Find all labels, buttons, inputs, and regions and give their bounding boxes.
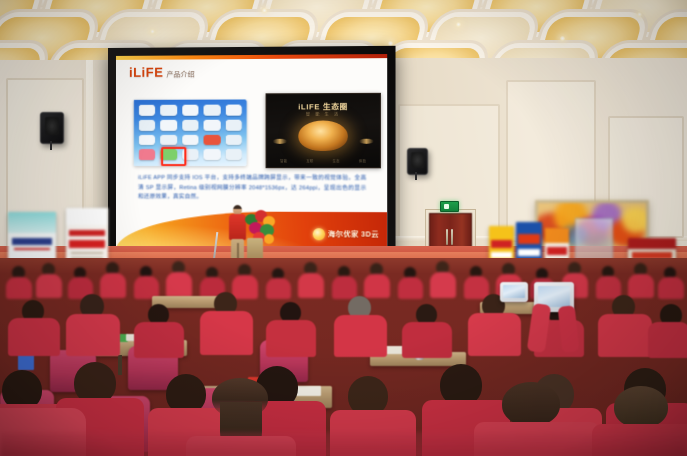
slide-brand-logo: 海尔优家 3D云 [313, 228, 379, 241]
slide-title-suffix: 产品介绍 [166, 71, 194, 78]
ceiling-downlight [456, 22, 461, 27]
ceiling-downlight [637, 12, 642, 17]
promo-footer-item: 体验 [359, 158, 366, 163]
speaker-bracket-left [50, 141, 52, 150]
promo-footer: 智能 互联 生态 体验 [271, 158, 376, 163]
ceiling-downlight [560, 36, 565, 41]
seated-audience [0, 258, 687, 456]
conference-hall-photo: iLiFE产品介绍 iLIFE 生态圈 智 能 生 活 [0, 0, 687, 456]
slide-body-text: iLiFE APP 同步支持 IOS 平台，支持多终端品牌跨屏显示，带来一致的视… [138, 174, 366, 204]
wall-speaker-right [407, 148, 428, 175]
product-promo-panel: iLIFE 生态圈 智 能 生 活 智能 互联 生态 体验 [266, 93, 381, 168]
slide-title-main: iLiFE [129, 65, 163, 80]
promo-footer-item: 互联 [306, 158, 313, 163]
slide-top-rule [116, 54, 387, 60]
promo-subtitle: 智 能 生 活 [267, 111, 380, 117]
wall-speaker-left [40, 112, 64, 144]
highlighted-app-icon [161, 147, 186, 166]
ios-home-screen-screenshot [134, 100, 247, 167]
slide-title: iLiFE产品介绍 [129, 64, 195, 79]
foreground-blur-band [0, 432, 687, 456]
brand-dot-icon [313, 228, 325, 240]
speaker-bracket-right [415, 172, 417, 180]
tablet-desk[interactable] [500, 282, 528, 302]
ceiling-downlight [150, 29, 155, 34]
promo-footer-item: 生态 [333, 158, 340, 163]
door-handle[interactable] [446, 229, 448, 245]
brand-logo-text: 海尔优家 3D云 [328, 229, 379, 239]
door-handle[interactable] [451, 229, 453, 245]
exit-sign-icon [440, 201, 459, 212]
promo-footer-item: 智能 [280, 158, 287, 163]
ceiling-downlight [262, 8, 267, 13]
promo-product-image [298, 120, 347, 151]
